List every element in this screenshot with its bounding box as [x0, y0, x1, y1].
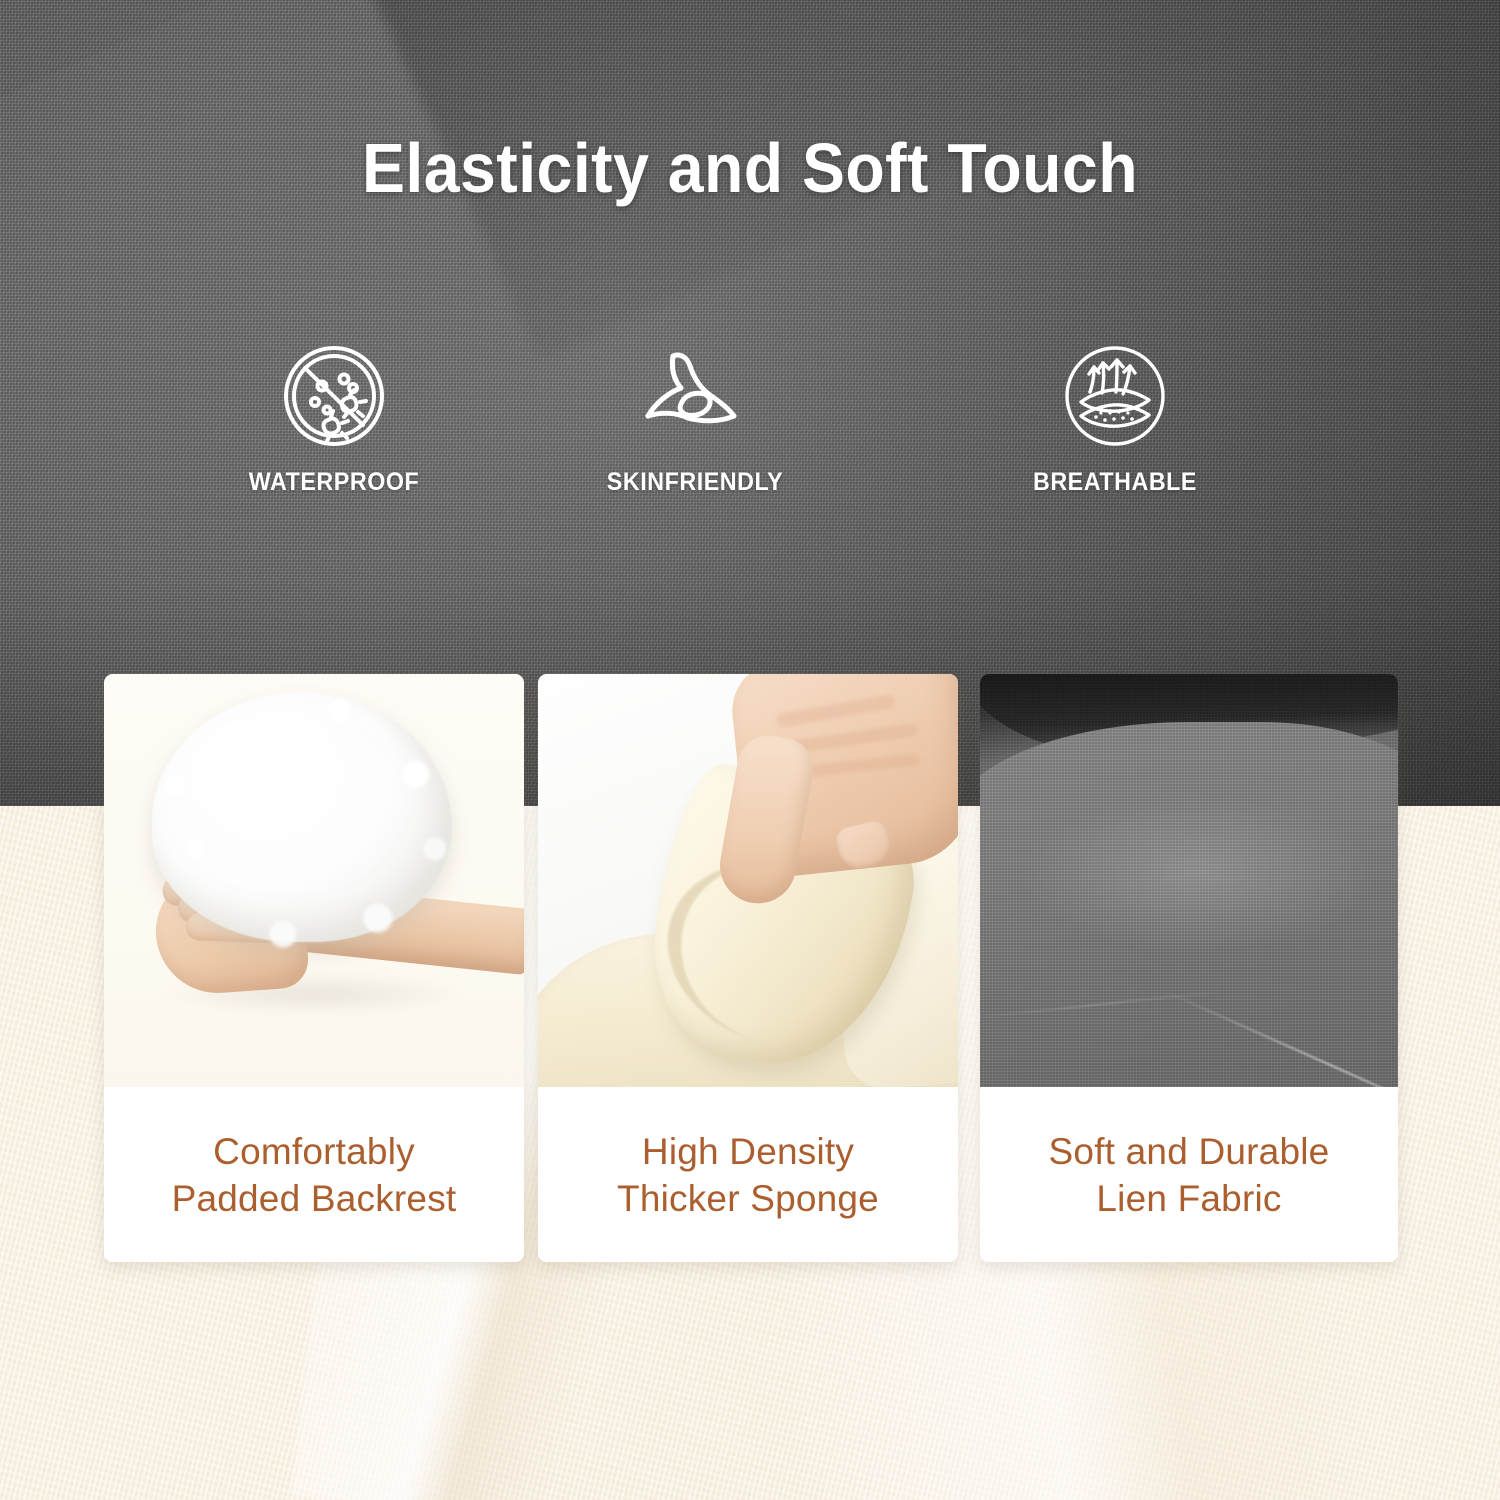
card-caption-thicker-sponge: High Density Thicker Sponge	[538, 1087, 958, 1262]
caption-line-1: Soft and Durable	[1049, 1128, 1330, 1175]
feature-card-padded-backrest[interactable]: Comfortably Padded Backrest	[104, 674, 524, 1262]
photo-grey-linen-cushion	[980, 674, 1398, 1087]
caption-line-2: Lien Fabric	[1096, 1175, 1281, 1222]
photo-hand-bending-foam	[538, 674, 958, 1087]
photo-hand-holding-fiberfill	[104, 674, 524, 1087]
feature-cards-row: Comfortably Padded Backrest High Density…	[0, 0, 1500, 1500]
feature-card-lien-fabric[interactable]: Soft and Durable Lien Fabric	[980, 674, 1398, 1262]
fiberfill-puff-shape	[152, 692, 452, 942]
card-caption-lien-fabric: Soft and Durable Lien Fabric	[980, 1087, 1398, 1262]
product-feature-infographic: Elasticity and Soft Touch	[0, 0, 1500, 1500]
caption-line-1: Comfortably	[213, 1128, 415, 1175]
caption-line-2: Thicker Sponge	[617, 1175, 879, 1222]
caption-line-1: High Density	[642, 1128, 854, 1175]
feature-card-thicker-sponge[interactable]: High Density Thicker Sponge	[538, 674, 958, 1262]
card-caption-padded-backrest: Comfortably Padded Backrest	[104, 1087, 524, 1262]
linen-weave-texture	[980, 674, 1398, 1087]
caption-line-2: Padded Backrest	[172, 1175, 457, 1222]
